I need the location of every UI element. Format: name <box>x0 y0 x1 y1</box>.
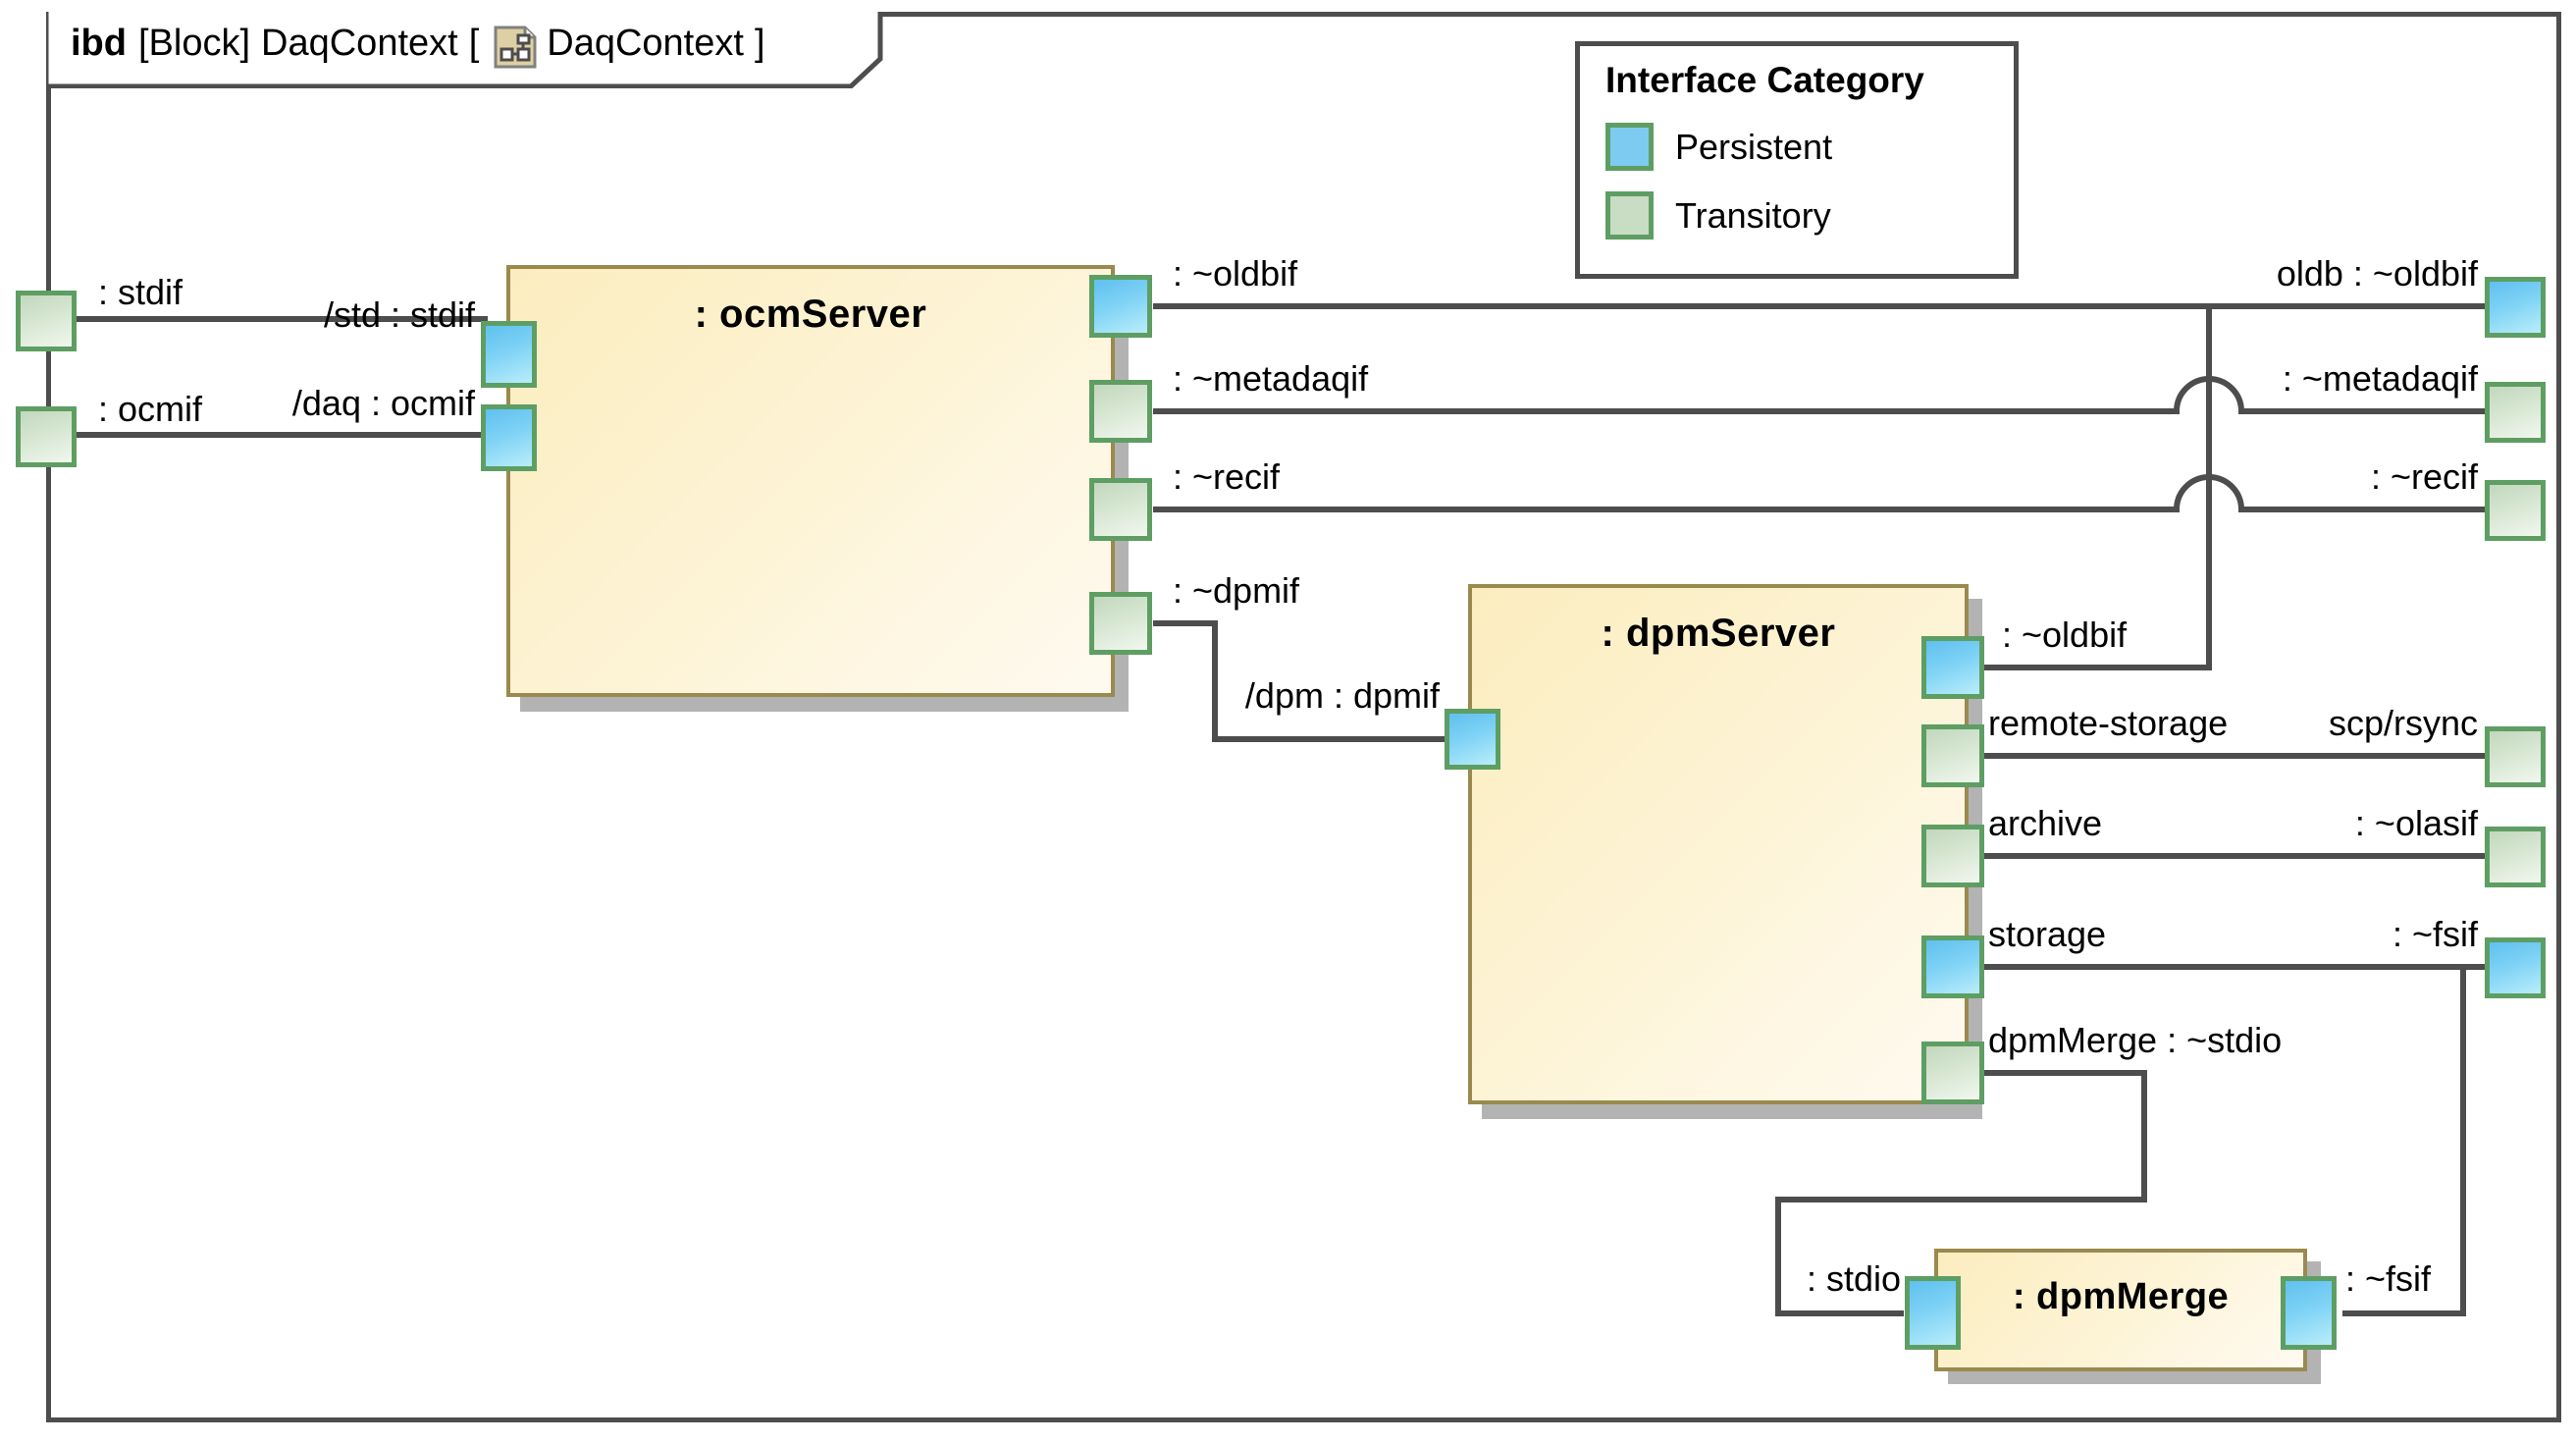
diagram-context-name: DaqContext <box>261 23 458 65</box>
label-ocmserver-daq: /daq : ocmif <box>292 383 475 424</box>
label-boundary-ocmif: : ocmif <box>98 389 202 430</box>
label-ocmserver-std: /std : stdif <box>324 294 475 336</box>
label-boundary-oldb-oldbif: oldb : ~oldbif <box>2277 253 2478 294</box>
port-dpmserver-archive[interactable] <box>1921 825 1984 887</box>
label-dpmmerge-stdio: : stdio <box>1807 1258 1901 1300</box>
block-dpmserver-title: : dpmServer <box>1472 612 1965 656</box>
diagram-qualifier: [Block] <box>138 23 250 65</box>
label-boundary-scp-rsync: scp/rsync <box>2329 703 2478 744</box>
port-ocmserver-recif[interactable] <box>1089 478 1152 541</box>
legend-title: Interface Category <box>1605 60 1924 101</box>
diagram-keyword: ibd <box>71 23 127 65</box>
port-dpmserver-storage[interactable] <box>1921 935 1984 998</box>
boundary-port-metadaqif[interactable] <box>2485 382 2546 443</box>
diagram-block-name: DaqContext <box>547 23 744 65</box>
boundary-port-scp-rsync[interactable] <box>2485 726 2546 787</box>
label-dpmserver-dpmmerge-stdio: dpmMerge : ~stdio <box>1988 1020 2282 1061</box>
block-definition-icon <box>494 26 537 69</box>
port-ocmserver-daq[interactable] <box>481 404 537 471</box>
block-dpmmerge-title: : dpmMerge <box>1938 1276 2303 1318</box>
port-ocmserver-std[interactable] <box>481 321 537 388</box>
port-dpmserver-remote-storage[interactable] <box>1921 724 1984 787</box>
legend-item-persistent: Persistent <box>1605 123 1832 171</box>
port-ocmserver-metadaqif[interactable] <box>1089 380 1152 443</box>
transitory-swatch <box>1605 191 1654 240</box>
label-dpmmerge-fsif: : ~fsif <box>2345 1258 2431 1300</box>
label-dpmserver-storage: storage <box>1988 914 2106 955</box>
diagram-frame-title: ibd [Block] DaqContext [ DaqContext ] <box>71 22 776 65</box>
port-dpmserver-oldbif[interactable] <box>1921 636 1984 699</box>
diagram-bracket-close: ] <box>755 23 765 65</box>
port-dpmmerge-stdio[interactable] <box>1905 1276 1961 1350</box>
block-dpmmerge[interactable]: : dpmMerge <box>1934 1249 2307 1371</box>
boundary-port-stdif[interactable] <box>16 291 77 351</box>
port-dpmserver-dpmmerge-stdio[interactable] <box>1921 1042 1984 1104</box>
label-boundary-fsif: : ~fsif <box>2392 914 2478 955</box>
label-boundary-metadaqif: : ~metadaqif <box>2283 358 2478 400</box>
label-dpmserver-remote-storage: remote-storage <box>1988 703 2228 744</box>
port-dpmserver-dpm[interactable] <box>1445 709 1500 770</box>
block-dpmserver[interactable]: : dpmServer <box>1468 584 1969 1104</box>
label-dpmserver-oldbif: : ~oldbif <box>2002 615 2127 656</box>
boundary-port-fsif[interactable] <box>2485 937 2546 998</box>
persistent-swatch <box>1605 123 1654 171</box>
interface-category-legend: Interface Category Persistent Transitory <box>1575 41 2019 279</box>
diagram-bracket-open: [ <box>469 23 480 65</box>
label-boundary-stdif: : stdif <box>98 272 183 313</box>
label-ocmserver-oldbif: : ~oldbif <box>1173 253 1297 294</box>
port-ocmserver-oldbif[interactable] <box>1089 275 1152 338</box>
label-ocmserver-dpmif: : ~dpmif <box>1173 570 1299 612</box>
label-boundary-recif: : ~recif <box>2371 456 2478 498</box>
block-ocmserver[interactable]: : ocmServer <box>506 265 1115 697</box>
label-boundary-olasif: : ~olasif <box>2355 803 2478 844</box>
port-ocmserver-dpmif[interactable] <box>1089 592 1152 655</box>
boundary-port-oldb-oldbif[interactable] <box>2485 277 2546 338</box>
label-dpmserver-dpm: /dpm : dpmif <box>1245 675 1440 717</box>
boundary-port-olasif[interactable] <box>2485 827 2546 887</box>
boundary-port-ocmif[interactable] <box>16 406 77 467</box>
legend-item-transitory: Transitory <box>1605 191 1831 240</box>
ibd-diagram-canvas: ibd [Block] DaqContext [ DaqContext ] In… <box>0 0 2576 1443</box>
label-ocmserver-metadaqif: : ~metadaqif <box>1173 358 1368 400</box>
label-dpmserver-archive: archive <box>1988 803 2102 844</box>
boundary-port-recif[interactable] <box>2485 480 2546 541</box>
port-dpmmerge-fsif[interactable] <box>2281 1276 2337 1350</box>
block-ocmserver-title: : ocmServer <box>510 293 1111 337</box>
label-ocmserver-recif: : ~recif <box>1173 456 1280 498</box>
legend-item-transitory-label: Transitory <box>1675 195 1831 237</box>
legend-item-persistent-label: Persistent <box>1675 127 1832 168</box>
